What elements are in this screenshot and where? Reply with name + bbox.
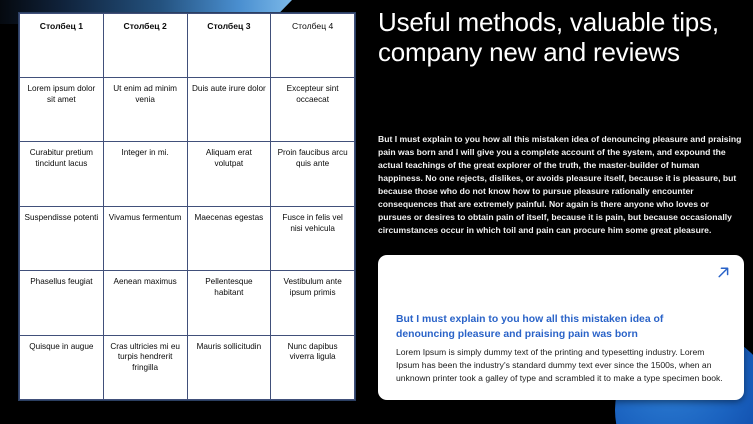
table-cell: Fusce in felis vel nisi vehicula <box>271 206 355 270</box>
table-cell: Aliquam erat volutpat <box>187 142 271 206</box>
table-cell: Phasellus feugiat <box>20 271 104 335</box>
table-cell: Proin faucibus arcu quis ante <box>271 142 355 206</box>
table-cell: Nunc dapibus viverra ligula <box>271 335 355 399</box>
right-content-column: Useful methods, valuable tips, company n… <box>377 0 753 424</box>
table-cell: Curabitur pretium tincidunt lacus <box>20 142 104 206</box>
table-cell: Aenean maximus <box>103 271 187 335</box>
table-cell: Pellentesque habitant <box>187 271 271 335</box>
table-cell: Vivamus fermentum <box>103 206 187 270</box>
table-column-header-3[interactable]: Столбец 3 <box>187 14 271 78</box>
table-header-row: Столбец 1 Столбец 2 Столбец 3 Столбец 4 <box>20 14 355 78</box>
card-heading: But I must explain to you how all this m… <box>396 313 710 343</box>
table-body: Lorem ipsum dolor sit amet Ut enim ad mi… <box>20 78 355 400</box>
table-cell: Vestibulum ante ipsum primis <box>271 271 355 335</box>
table-header: Столбец 1 Столбец 2 Столбец 3 Столбец 4 <box>20 14 355 78</box>
table-row: Phasellus feugiat Aenean maximus Pellent… <box>20 271 355 335</box>
table-cell: Excepteur sint occaecat <box>271 78 355 142</box>
card-body-text: Lorem Ipsum is simply dummy text of the … <box>396 346 726 385</box>
table-cell: Maecenas egestas <box>187 206 271 270</box>
table-column-header-1[interactable]: Столбец 1 <box>20 14 104 78</box>
slide-canvas: Столбец 1 Столбец 2 Столбец 3 Столбец 4 … <box>0 0 753 424</box>
table-cell: Cras ultricies mi eu turpis hendrerit fr… <box>103 335 187 399</box>
data-table: Столбец 1 Столбец 2 Столбец 3 Столбец 4 … <box>19 13 355 400</box>
table-column-header-4[interactable]: Столбец 4 <box>271 14 355 78</box>
table-cell: Duis aute irure dolor <box>187 78 271 142</box>
table-cell: Suspendisse potenti <box>20 206 104 270</box>
data-table-container: Столбец 1 Столбец 2 Столбец 3 Столбец 4 … <box>18 12 356 401</box>
lead-paragraph: But I must explain to you how all this m… <box>378 133 744 238</box>
table-row: Suspendisse potenti Vivamus fermentum Ma… <box>20 206 355 270</box>
table-cell: Integer in mi. <box>103 142 187 206</box>
table-row: Lorem ipsum dolor sit amet Ut enim ad mi… <box>20 78 355 142</box>
table-row: Quisque in augue Cras ultricies mi eu tu… <box>20 335 355 399</box>
page-title: Useful methods, valuable tips, company n… <box>378 8 736 67</box>
table-cell: Lorem ipsum dolor sit amet <box>20 78 104 142</box>
table-cell: Mauris sollicitudin <box>187 335 271 399</box>
arrow-up-right-icon[interactable] <box>715 264 732 281</box>
table-row: Curabitur pretium tincidunt lacus Intege… <box>20 142 355 206</box>
highlight-card[interactable]: But I must explain to you how all this m… <box>378 255 744 400</box>
table-cell: Ut enim ad minim venia <box>103 78 187 142</box>
table-cell: Quisque in augue <box>20 335 104 399</box>
table-column-header-2[interactable]: Столбец 2 <box>103 14 187 78</box>
